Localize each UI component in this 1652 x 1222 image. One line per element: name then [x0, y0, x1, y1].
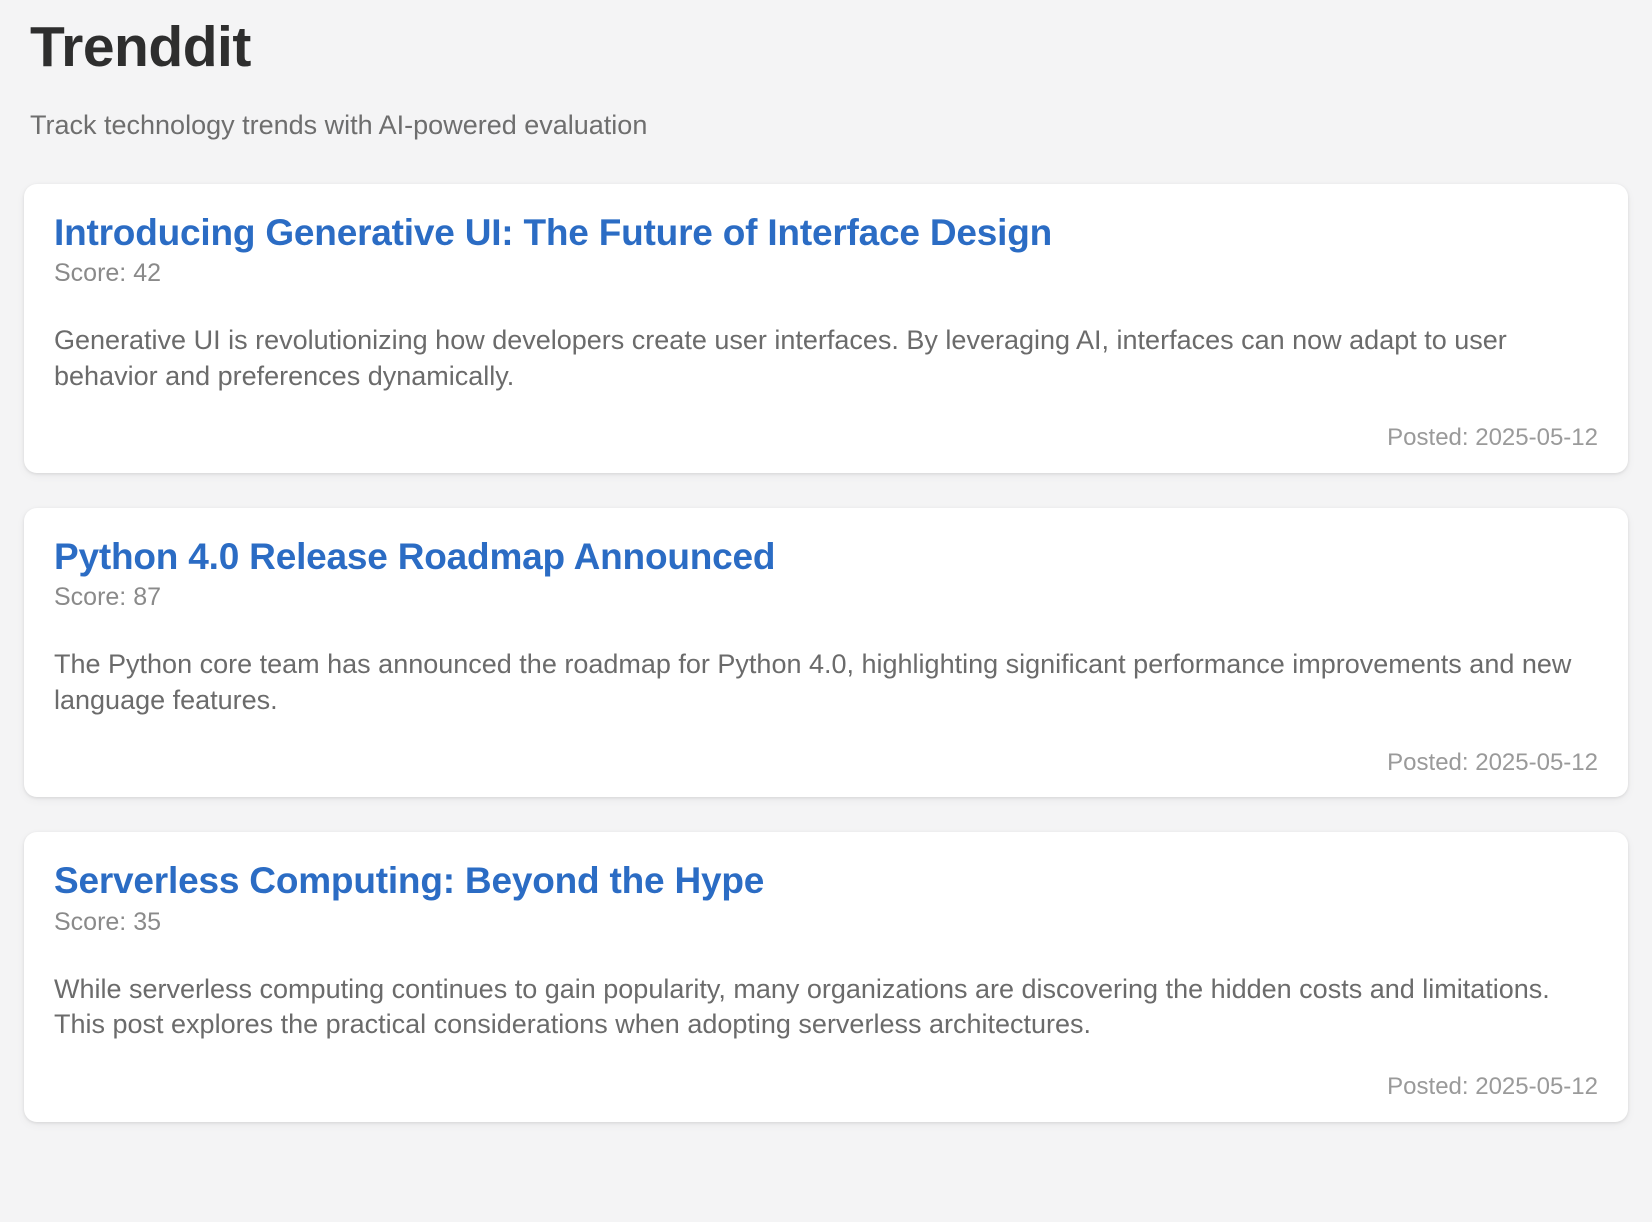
post-list: Introducing Generative UI: The Future of…: [24, 184, 1628, 1122]
post-title-link[interactable]: Serverless Computing: Beyond the Hype: [54, 858, 1598, 903]
post-card[interactable]: Python 4.0 Release Roadmap Announced Sco…: [24, 508, 1628, 797]
post-score: Score: 42: [54, 258, 1598, 289]
post-card[interactable]: Serverless Computing: Beyond the Hype Sc…: [24, 832, 1628, 1121]
post-summary: The Python core team has announced the r…: [54, 647, 1598, 718]
post-posted-date: Posted: 2025-05-12: [54, 749, 1598, 778]
page-subtitle: Track technology trends with AI-powered …: [24, 81, 1628, 141]
post-card[interactable]: Introducing Generative UI: The Future of…: [24, 184, 1628, 473]
post-posted-date: Posted: 2025-05-12: [54, 424, 1598, 453]
page-container: Trenddit Track technology trends with AI…: [0, 0, 1652, 1142]
post-posted-date: Posted: 2025-05-12: [54, 1073, 1598, 1102]
post-score: Score: 35: [54, 907, 1598, 938]
post-title-link[interactable]: Introducing Generative UI: The Future of…: [54, 210, 1598, 255]
post-score: Score: 87: [54, 582, 1598, 613]
post-summary: While serverless computing continues to …: [54, 972, 1598, 1043]
post-title-link[interactable]: Python 4.0 Release Roadmap Announced: [54, 534, 1598, 579]
page-title: Trenddit: [24, 0, 1628, 81]
post-summary: Generative UI is revolutionizing how dev…: [54, 323, 1598, 394]
